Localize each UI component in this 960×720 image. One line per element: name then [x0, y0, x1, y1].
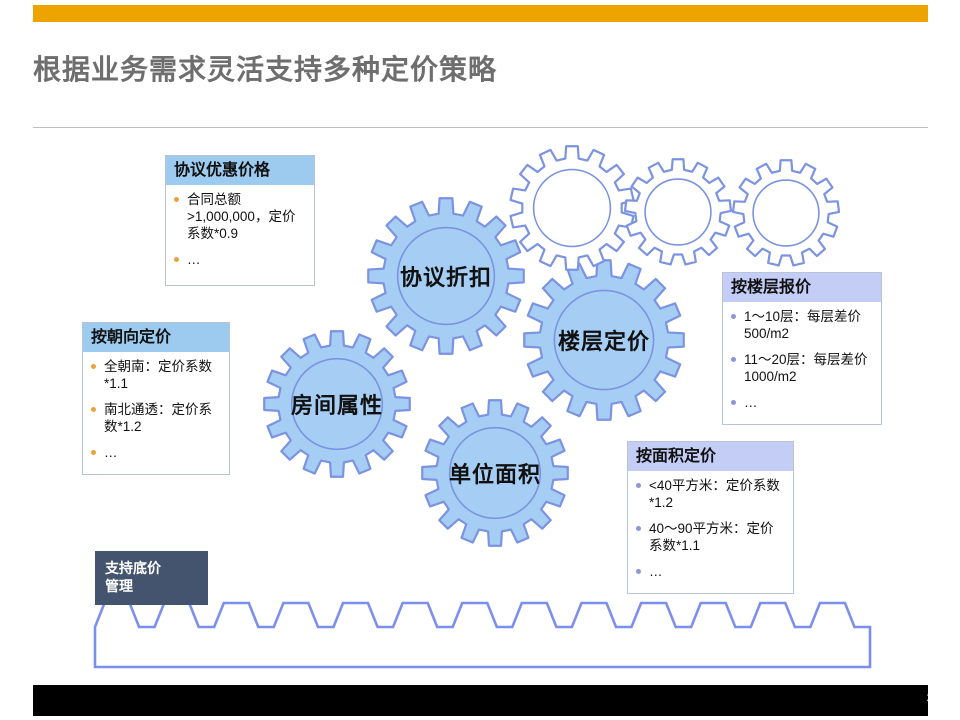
bullet-item: …: [172, 251, 308, 268]
bullet-item: 40～90平方米：定价系数*1.1: [634, 520, 787, 554]
base-price-box: 支持底价 管理: [95, 551, 208, 605]
card-header-orientation-price: 按朝向定价: [83, 323, 229, 352]
bullet-item: 11～20层：每层差价1000/m2: [729, 351, 875, 385]
card-body-orientation-price: 全朝南：定价系数*1.1南北通透：定价系数*1.2…: [83, 352, 229, 467]
bullet-item: …: [89, 444, 223, 461]
card-header-floor-price: 按楼层报价: [723, 273, 881, 302]
slide-canvas: 根据业务需求灵活支持多种定价策略 协议折扣房间属性单位面积楼层定价 支持底价 管…: [0, 0, 960, 720]
card-agreement-price: 协议优惠价格合同总额 >1,000,000，定价系数*0.9…: [165, 155, 315, 286]
card-header-area-price: 按面积定价: [628, 442, 793, 471]
bottom-black-bar: [33, 685, 928, 716]
card-body-floor-price: 1～10层：每层差价500/m211～20层：每层差价1000/m2…: [723, 302, 881, 417]
bullet-item: 合同总额 >1,000,000，定价系数*0.9: [172, 191, 308, 242]
bullet-item: <40平方米：定价系数*1.2: [634, 477, 787, 511]
bullet-item: …: [634, 563, 787, 580]
card-orientation-price: 按朝向定价全朝南：定价系数*1.1南北通透：定价系数*1.2…: [82, 322, 230, 475]
bullet-item: 1～10层：每层差价500/m2: [729, 308, 875, 342]
bullet-item: 全朝南：定价系数*1.1: [89, 358, 223, 392]
card-area-price: 按面积定价<40平方米：定价系数*1.240～90平方米：定价系数*1.1…: [627, 441, 794, 594]
card-body-agreement-price: 合同总额 >1,000,000，定价系数*0.9…: [166, 185, 314, 274]
bullet-item: 南北通透：定价系数*1.2: [89, 401, 223, 435]
card-floor-price: 按楼层报价1～10层：每层差价500/m211～20层：每层差价1000/m2…: [722, 272, 882, 425]
bullet-item: …: [729, 394, 875, 411]
card-body-area-price: <40平方米：定价系数*1.240～90平方米：定价系数*1.1…: [628, 471, 793, 586]
page-number: 31: [927, 691, 940, 705]
card-header-agreement-price: 协议优惠价格: [166, 156, 314, 185]
